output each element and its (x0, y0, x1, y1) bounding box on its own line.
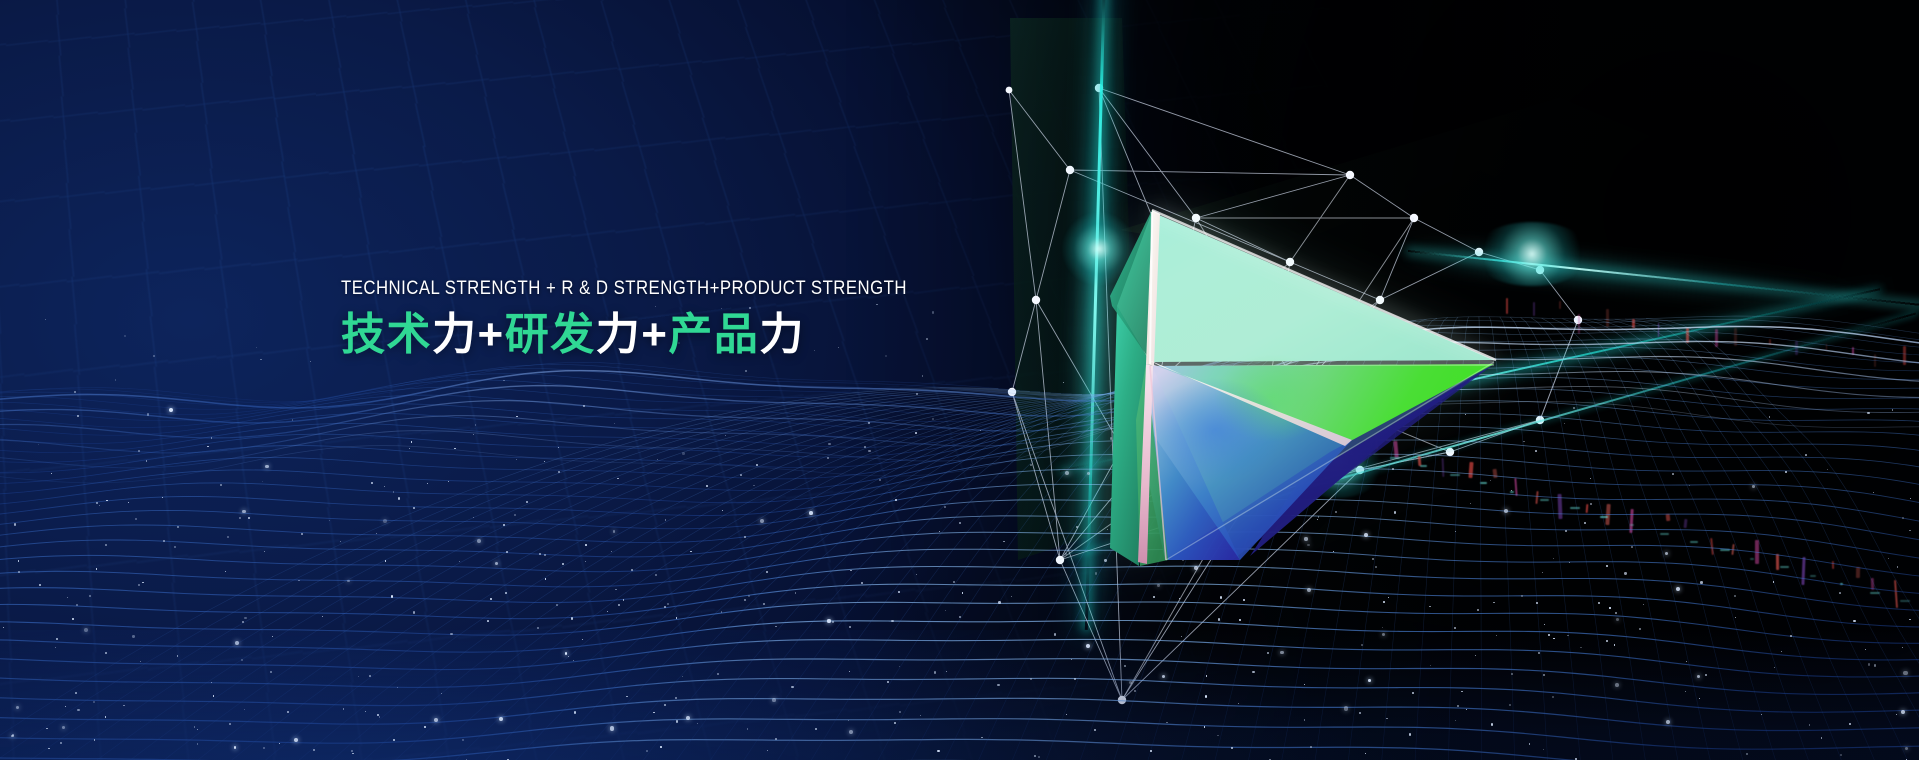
headline-segment-0: 技术 (341, 310, 432, 359)
page-title: 技术力+研发力+产品力 (341, 308, 999, 362)
headline-segment-2: + (478, 310, 505, 359)
headline-text-block: TECHNICAL STRENGTH + R & D STRENGTH+PROD… (341, 278, 999, 362)
eyebrow-text: TECHNICAL STRENGTH + R & D STRENGTH+PROD… (341, 278, 907, 299)
headline-segment-5: + (641, 310, 668, 359)
hero-banner: TECHNICAL STRENGTH + R & D STRENGTH+PROD… (0, 0, 1919, 760)
headline-segment-7: 力 (759, 310, 805, 359)
play-arrow-3d-object (0, 0, 1919, 760)
headline-segment-3: 研发 (505, 310, 596, 359)
headline-segment-4: 力 (596, 310, 642, 359)
headline-segment-6: 产品 (668, 310, 759, 359)
headline-segment-1: 力 (432, 310, 478, 359)
